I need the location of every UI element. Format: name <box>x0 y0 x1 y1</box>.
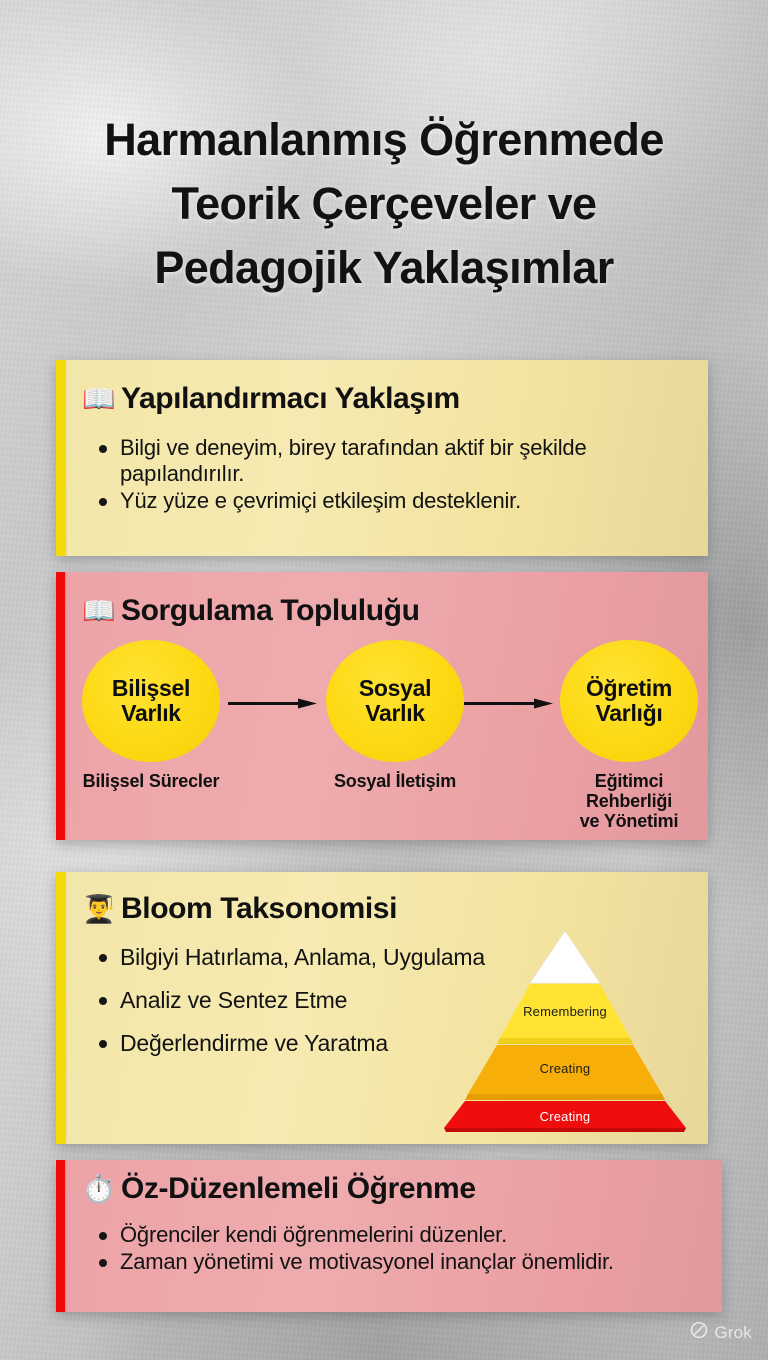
card-title: Sorgulama Topluluğu <box>121 594 420 628</box>
card-header: ⏱️ Öz-Düzenlemeli Öğrenme <box>82 1172 476 1206</box>
bloom-pyramid-chart: Remembering Creating Creating <box>440 928 690 1133</box>
flow-node-label-line2: Varlığı <box>596 700 663 726</box>
card-accent-bar <box>56 360 65 556</box>
flow-node-social: Sosyal Varlık Sosyal İletişim <box>326 640 464 791</box>
card-accent-bar <box>56 872 65 1144</box>
title-line-2: Teorik Çerçeveler ve <box>0 172 768 236</box>
stopwatch-icon: ⏱️ <box>82 1176 112 1203</box>
card-header: 👨‍🎓 Bloom Taksonomisi <box>82 892 397 926</box>
open-book-icon: 📖 <box>82 386 112 413</box>
card-community-of-inquiry: 📖 Sorgulama Topluluğu Bilişsel Varlık Bi… <box>56 572 708 840</box>
pyramid-level-label: Remembering <box>523 1004 607 1019</box>
infographic-poster: Harmanlanmış Öğrenmede Teorik Çerçeveler… <box>0 0 768 1360</box>
card-title: Bloom Taksonomisi <box>121 892 397 926</box>
card-header: 📖 Sorgulama Topluluğu <box>82 594 420 628</box>
inquiry-flow-diagram: Bilişsel Varlık Bilişsel Sürecler Sosyal <box>82 640 708 828</box>
card-title: Yapılandırmacı Yaklaşım <box>121 382 460 416</box>
card-title: Öz-Düzenlemeli Öğrenme <box>121 1172 476 1206</box>
list-item: Bilgi ve deneyim, birey tarafından aktif… <box>94 435 684 486</box>
flow-node-caption-line1: Bilişsel Sürecler <box>83 771 220 791</box>
card-self-regulated-learning: ⏱️ Öz-Düzenlemeli Öğrenme Öğrenciler ken… <box>56 1160 722 1312</box>
card-accent-bar <box>56 1160 65 1312</box>
pyramid-svg <box>440 928 690 1133</box>
page-title: Harmanlanmış Öğrenmede Teorik Çerçeveler… <box>0 108 768 300</box>
list-item: Zaman yönetimi ve motivasyonel inançlar … <box>94 1249 714 1275</box>
flow-node-label-line2: Varlık <box>121 700 181 726</box>
card-constructivist: 📖 Yapılandırmacı Yaklaşım Bilgi ve deney… <box>56 360 708 556</box>
card-bullet-list: Öğrenciler kendi öğrenmelerini düzenler.… <box>94 1222 714 1275</box>
card-bullet-list: Bilgi ve deneyim, birey tarafından aktif… <box>94 435 684 516</box>
watermark-label: Grok <box>714 1323 752 1343</box>
card-bloom-taxonomy: 👨‍🎓 Bloom Taksonomisi Bilgiyi Hatırlama,… <box>56 872 708 1144</box>
open-book-icon: 📖 <box>82 598 112 625</box>
flow-node-caption-line2: ve Yönetimi <box>580 811 679 831</box>
flow-node-label-line1: Bilişsel <box>112 675 190 701</box>
title-line-1: Harmanlanmış Öğrenmede <box>0 108 768 172</box>
flow-node-circle: Sosyal Varlık <box>326 640 464 762</box>
pyramid-level-creating-mid: Creating <box>440 1057 690 1079</box>
flow-node-caption-line1: Eğitimci Rehberliği <box>586 771 672 811</box>
flow-node-circle: Bilişsel Varlık <box>82 640 220 762</box>
pyramid-level-apex <box>440 974 690 996</box>
flow-node-caption-line1: Sosyal İletişim <box>334 771 456 791</box>
card-header: 📖 Yapılandırmacı Yaklaşım <box>82 382 460 416</box>
arrow-right-icon <box>228 696 318 707</box>
pyramid-level-label: Creating <box>540 1109 591 1124</box>
title-line-3: Pedagojik Yaklaşımlar <box>0 236 768 300</box>
list-item: Öğrenciler kendi öğrenmelerini düzenler. <box>94 1222 714 1248</box>
flow-node-label-line1: Sosyal <box>359 675 431 701</box>
pyramid-level-remembering: Remembering <box>440 1000 690 1022</box>
flow-node-cognitive: Bilişsel Varlık Bilişsel Sürecler <box>82 640 220 791</box>
flow-node-label-line2: Varlık <box>365 700 425 726</box>
flow-node-label-line1: Öğretim <box>586 675 672 701</box>
flow-node-caption: Sosyal İletişim <box>326 771 464 791</box>
list-item: Yüz yüze e çevrimiçi etkileşim desteklen… <box>94 488 684 514</box>
card-accent-bar <box>56 572 65 840</box>
flow-node-caption: Bilişsel Sürecler <box>82 771 220 791</box>
pyramid-level-creating-base: Creating <box>440 1105 690 1127</box>
flow-node-teaching: Öğretim Varlığı Eğitimci Rehberliği ve Y… <box>560 640 698 831</box>
watermark: Grok <box>690 1321 752 1344</box>
grok-logo-icon <box>690 1321 708 1344</box>
flow-node-caption: Eğitimci Rehberliği ve Yönetimi <box>560 771 698 831</box>
arrow-right-icon <box>464 696 554 707</box>
student-icon: 👨‍🎓 <box>82 896 112 923</box>
flow-node-circle: Öğretim Varlığı <box>560 640 698 762</box>
pyramid-level-label: Creating <box>540 1061 591 1076</box>
